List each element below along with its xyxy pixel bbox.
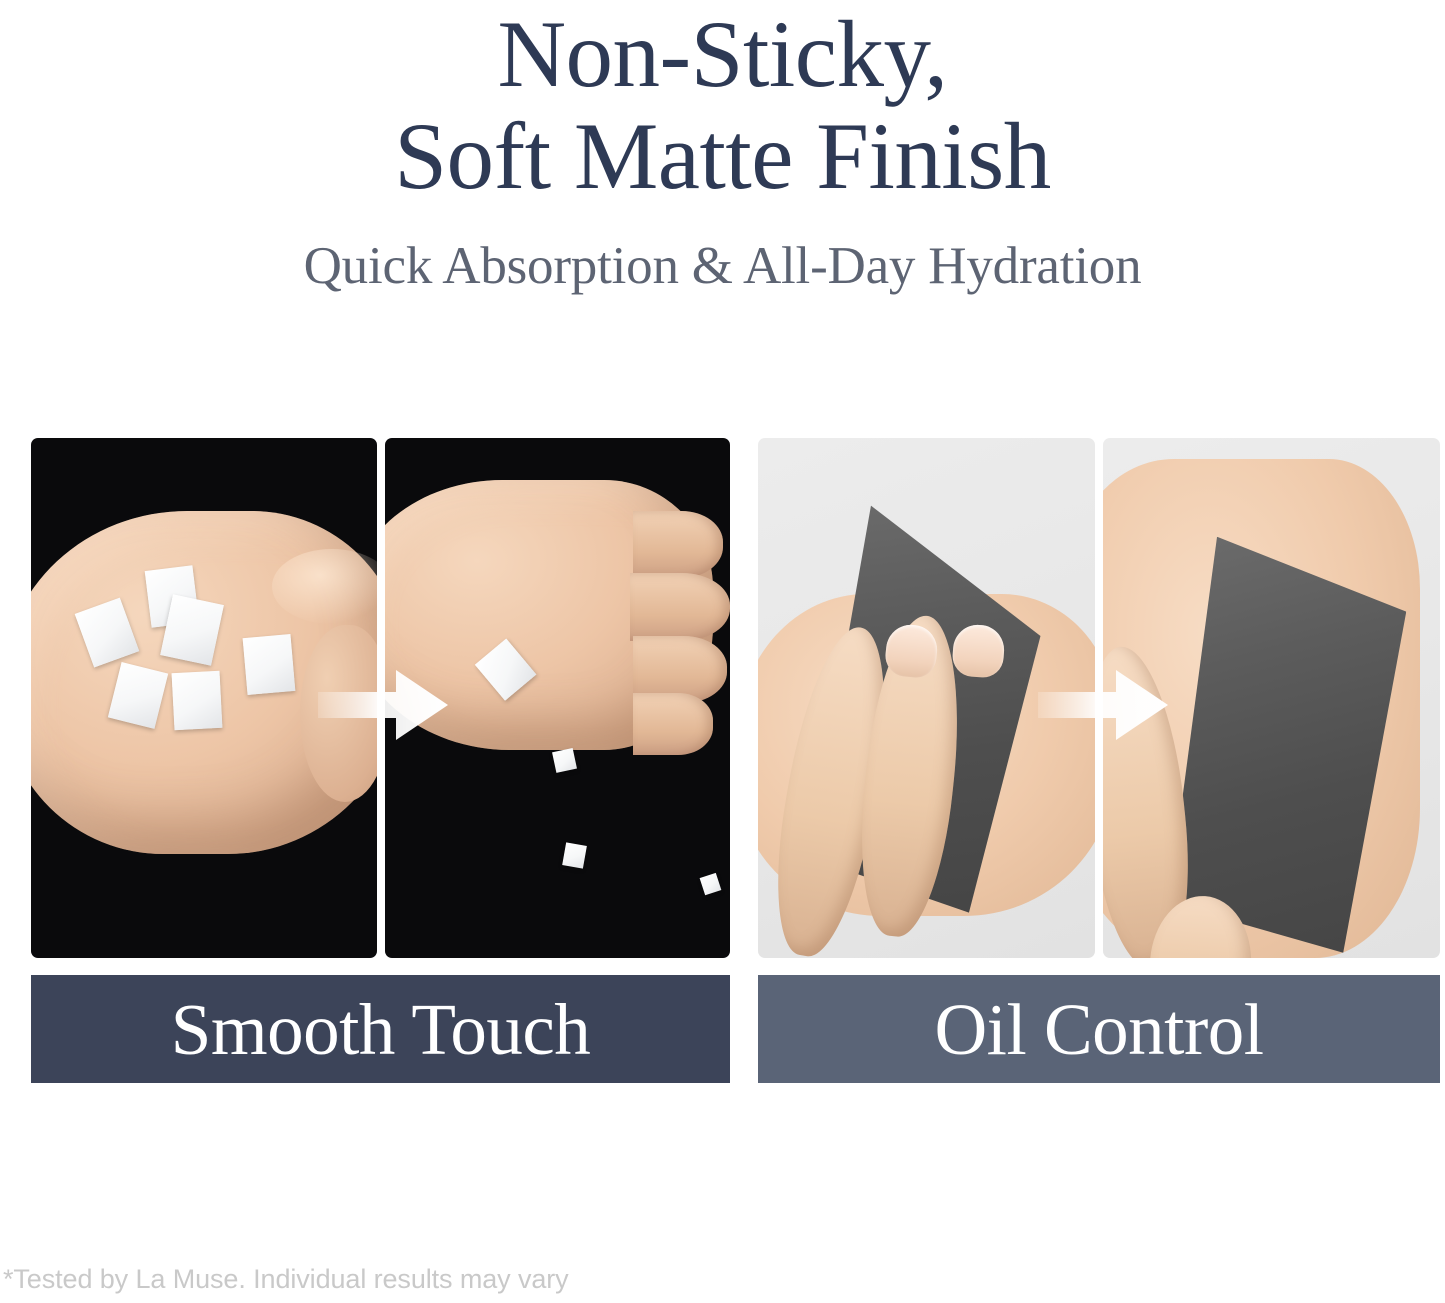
header-block: Non-Sticky, Soft Matte Finish Quick Abso… xyxy=(0,0,1445,296)
photo-tilted-hand-squares-falling xyxy=(385,438,731,958)
paper-square-falling xyxy=(552,748,577,773)
paper-square-falling xyxy=(700,873,722,896)
panel-oil-control-after xyxy=(1103,438,1440,958)
photo-hand-with-paper-squares xyxy=(31,438,377,958)
caption-bars: Smooth Touch Oil Control xyxy=(31,975,1440,1083)
caption-label: Smooth Touch xyxy=(171,993,591,1066)
page-title: Non-Sticky, Soft Matte Finish xyxy=(0,0,1445,207)
caption-bar-oil-control: Oil Control xyxy=(758,975,1440,1083)
page-title-line-1: Non-Sticky, xyxy=(0,4,1445,106)
paper-square xyxy=(171,671,222,731)
photo-clean-blotting-paper-lifted xyxy=(1103,438,1440,958)
paper-square xyxy=(243,634,296,695)
page-title-line-2: Soft Matte Finish xyxy=(0,106,1445,208)
panel-smooth-touch-before xyxy=(31,438,377,958)
photo-blotting-paper-pressed-on-hand xyxy=(758,438,1095,958)
paper-square-falling xyxy=(562,842,586,869)
knuckle-highlight xyxy=(272,549,377,625)
comparison-panels xyxy=(31,438,1440,958)
finger xyxy=(630,573,730,641)
disclaimer-text: *Tested by La Muse. Individual results m… xyxy=(3,1264,569,1295)
caption-bar-smooth-touch: Smooth Touch xyxy=(31,975,730,1083)
finger xyxy=(633,693,712,755)
thumb xyxy=(300,625,376,802)
comparison-group-smooth-touch xyxy=(31,438,730,958)
panel-oil-control-before xyxy=(758,438,1095,958)
comparison-group-oil-control xyxy=(758,438,1440,958)
finger xyxy=(633,511,723,579)
panel-smooth-touch-after xyxy=(385,438,731,958)
caption-label: Oil Control xyxy=(934,993,1263,1066)
page-subtitle: Quick Absorption & All-Day Hydration xyxy=(0,207,1445,295)
